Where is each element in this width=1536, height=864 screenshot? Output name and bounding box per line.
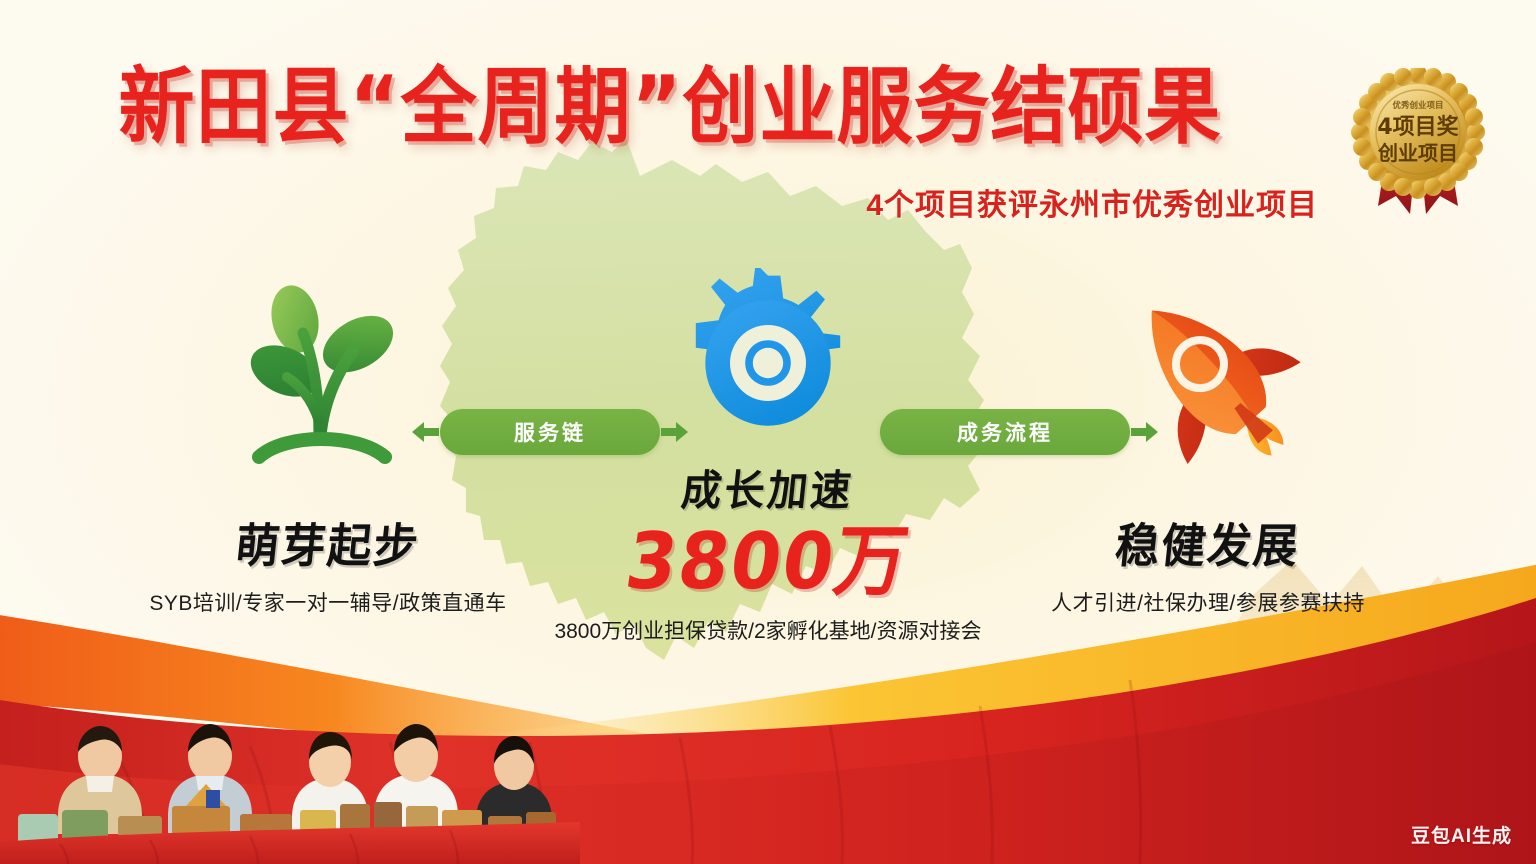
medal-line-1: 4项目奖 bbox=[1377, 114, 1459, 140]
stage-description-center: 3800万创业担保贷款/2家孵化基地/资源对接会 bbox=[548, 616, 988, 648]
poster-canvas: 新田县“全周期”创业服务结硕果 4个项目获评永州市优秀创业项目 bbox=[0, 0, 1536, 864]
stage-gear: 成长加速 3800万 3800万创业担保贷款/2家孵化基地/资源对接会 bbox=[548, 268, 988, 648]
arrow-left-icon bbox=[410, 418, 440, 446]
medal-line-2: 创业项目 bbox=[1377, 141, 1458, 165]
connector-right: 成务流程 bbox=[880, 406, 1160, 458]
stage-description: SYB培训/专家一对一辅导/政策直通车 bbox=[108, 588, 548, 620]
arrow-right-icon bbox=[660, 418, 690, 446]
connector-right-label: 成务流程 bbox=[880, 409, 1130, 455]
connector-left: 服务链 bbox=[410, 406, 690, 458]
watermark-label: 豆包AI生成 bbox=[1411, 821, 1512, 848]
stage-heading-center: 成长加速 bbox=[545, 457, 991, 518]
page-subtitle: 4个项目获评永州市优秀创业项目 bbox=[0, 180, 1340, 224]
highlight-number: 3800万 bbox=[542, 519, 994, 603]
connector-left-label: 服务链 bbox=[440, 409, 660, 455]
stage-description: 人才引进/社保办理/参展参赛扶持 bbox=[988, 588, 1428, 620]
arrow-right-icon-2 bbox=[1130, 418, 1160, 446]
award-medal: 优秀创业项目 4项目奖 创业项目 bbox=[1348, 68, 1488, 218]
medal-top-text: 优秀创业项目 bbox=[1392, 100, 1443, 111]
people-photo bbox=[0, 664, 580, 864]
title-block: 新田县“全周期”创业服务结硕果 4个项目获评永州市优秀创业项目 bbox=[0, 62, 1340, 224]
stage-heading: 稳健发展 bbox=[984, 508, 1431, 576]
page-title: 新田县“全周期”创业服务结硕果 bbox=[0, 58, 1340, 157]
stage-heading: 萌芽起步 bbox=[104, 508, 551, 576]
